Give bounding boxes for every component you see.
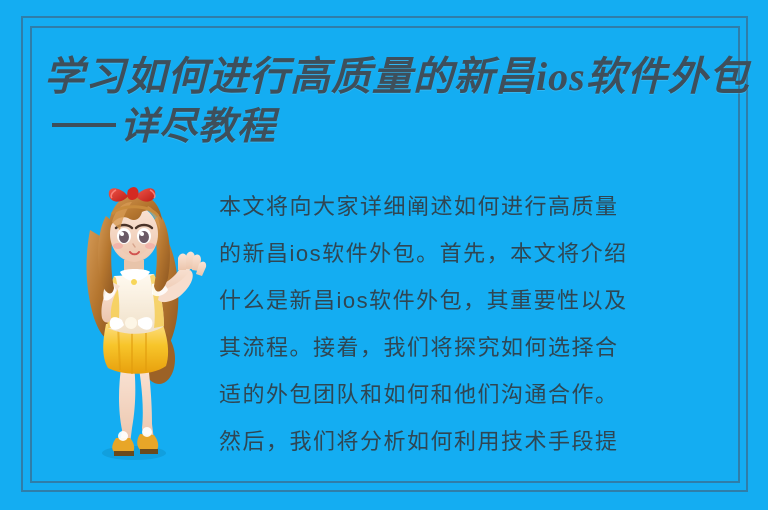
- body-line: 然后，我们将分析如何利用技术手段提: [219, 418, 739, 465]
- body-line: 的新昌ios软件外包。首先，本文将介绍: [219, 230, 739, 277]
- title-line-2-text: 详尽教程: [120, 106, 276, 148]
- page-title: 学习如何进行高质量的新昌ios软件外包 详尽教程: [44, 52, 734, 152]
- title-line-2: 详尽教程: [44, 102, 734, 152]
- title-dash-icon: [52, 123, 116, 127]
- poster-canvas: 学习如何进行高质量的新昌ios软件外包 详尽教程 本文将向大家详细阐述如何进行高…: [0, 0, 768, 510]
- body-line: 本文将向大家详细阐述如何进行高质量: [219, 183, 739, 230]
- body-line: 其流程。接着，我们将探究如何选择合: [219, 324, 739, 371]
- body-line: 适的外包团队和如何和他们沟通合作。: [219, 371, 739, 418]
- title-line-1: 学习如何进行高质量的新昌ios软件外包: [44, 52, 734, 102]
- body-line: 什么是新昌ios软件外包，其重要性以及: [219, 277, 739, 324]
- anime-girl-illustration: [62, 172, 212, 472]
- body-copy: 本文将向大家详细阐述如何进行高质量 的新昌ios软件外包。首先，本文将介绍 什么…: [219, 183, 739, 465]
